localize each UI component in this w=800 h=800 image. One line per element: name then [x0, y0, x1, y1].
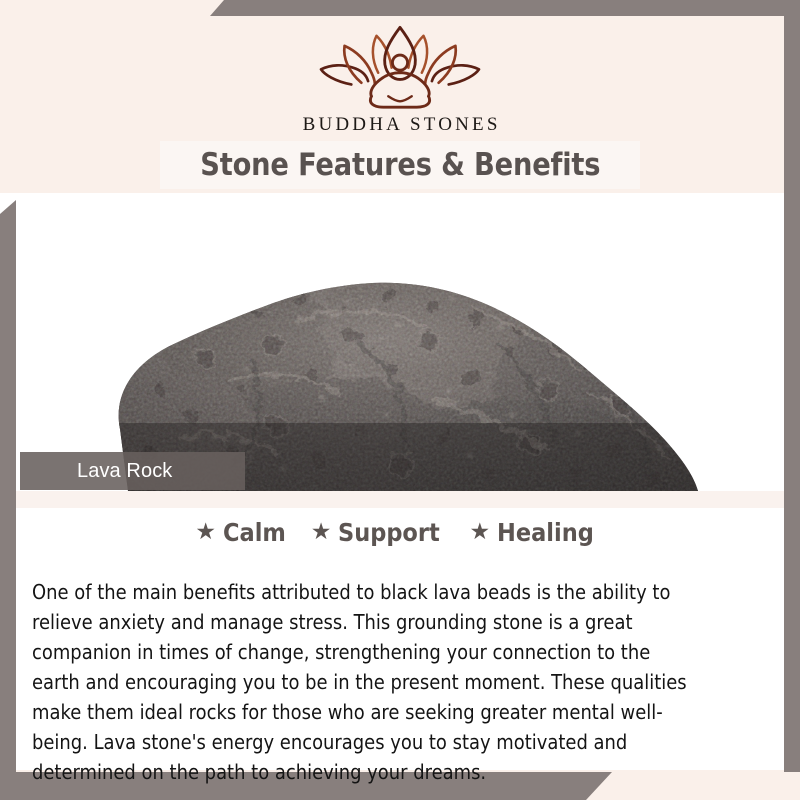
photo-caption-chip: Lava Rock	[20, 452, 245, 490]
border-bar-left	[0, 200, 16, 800]
photo-caption-label: Lava Rock	[20, 460, 172, 483]
border-bar-top	[210, 0, 800, 16]
benefit-item-healing: ★ Healing	[469, 518, 604, 547]
headline-banner: Stone Features & Benefits	[160, 141, 640, 189]
description-paragraph: One of the main benefits attributed to b…	[32, 577, 699, 787]
benefits-row: ★ Calm ★ Support ★ Healing	[0, 518, 800, 547]
stone-benefits-poster: Lava Rock	[0, 0, 800, 800]
lotus-meditation-figure-icon	[316, 22, 484, 110]
benefit-item-calm: ★ Calm	[195, 518, 292, 547]
brand-name: BUDDHA STONES	[0, 114, 800, 136]
star-icon: ★	[195, 520, 216, 543]
brand-logo: BUDDHA STONES	[0, 22, 800, 136]
benefit-item-support: ★ Support	[311, 518, 452, 547]
benefit-label-support: Support	[338, 518, 440, 547]
lava-rock-illustration	[0, 193, 800, 491]
benefit-label-calm: Calm	[223, 518, 286, 547]
star-icon: ★	[469, 520, 490, 543]
benefit-label-healing: Healing	[497, 518, 594, 547]
star-icon: ★	[311, 520, 332, 543]
cream-separator-band	[0, 490, 800, 508]
page-title: Stone Features & Benefits	[200, 147, 600, 183]
lava-rock-photo	[0, 193, 800, 491]
